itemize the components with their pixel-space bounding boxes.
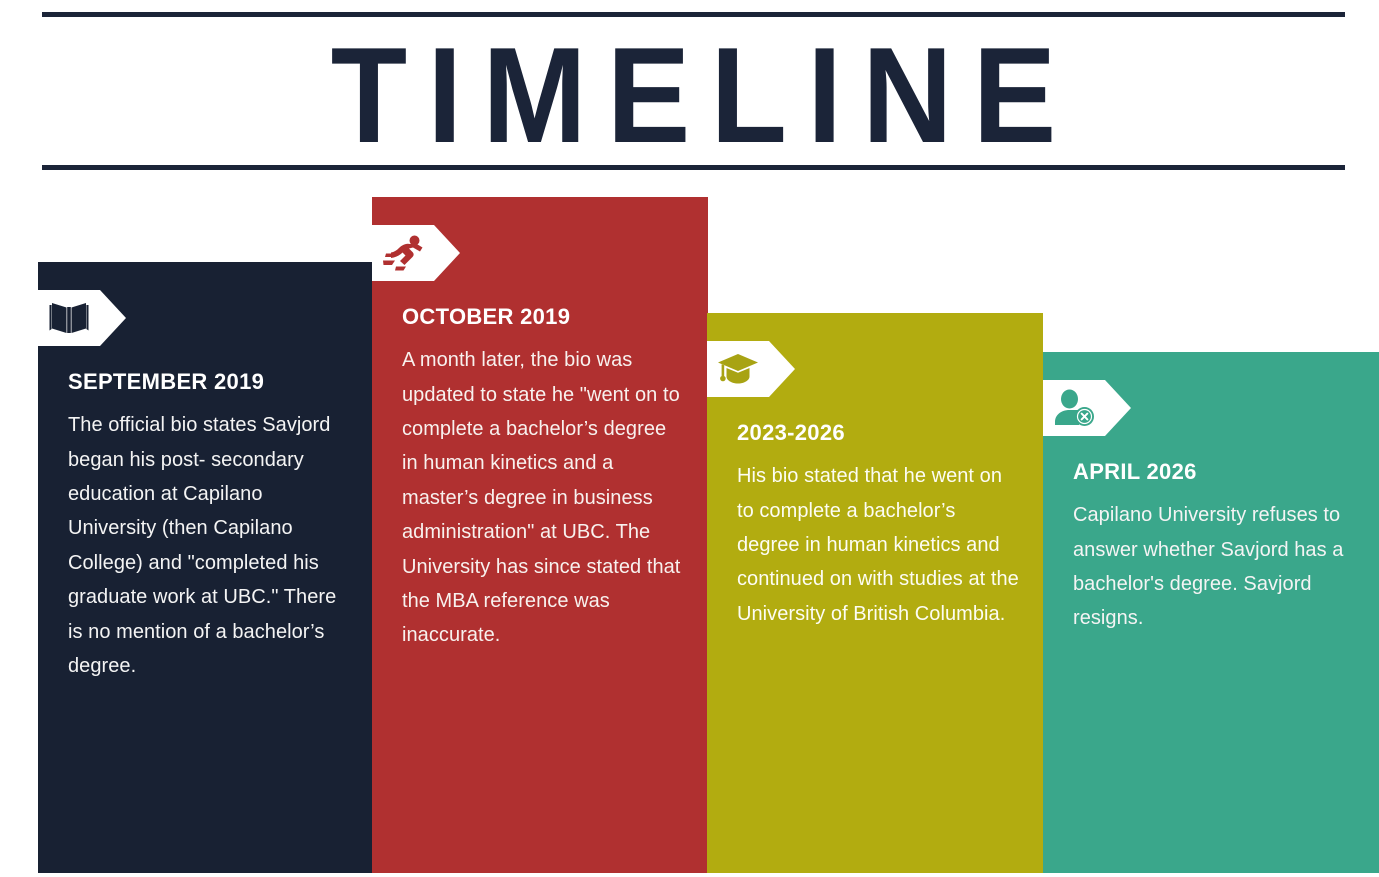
card-body: 2023-2026 His bio stated that he went on…: [737, 421, 1019, 631]
card-text: His bio stated that he went on to comple…: [737, 459, 1019, 631]
card-text: Capilano University refuses to answer wh…: [1073, 498, 1355, 636]
card-body: OCTOBER 2019 A month later, the bio was …: [402, 305, 684, 653]
timeline-badge: [707, 341, 795, 397]
card-date: APRIL 2026: [1073, 460, 1355, 484]
card-date: SEPTEMBER 2019: [68, 370, 350, 394]
card-body: SEPTEMBER 2019 The official bio states S…: [68, 370, 350, 683]
card-text: The official bio states Savjord began hi…: [68, 408, 350, 683]
graduation-cap-icon: [715, 347, 761, 391]
card-date: OCTOBER 2019: [402, 305, 684, 329]
timeline-card-april-2026[interactable]: APRIL 2026 Capilano University refuses t…: [1043, 352, 1379, 873]
user-remove-icon: [1051, 386, 1097, 430]
card-body: APRIL 2026 Capilano University refuses t…: [1073, 460, 1355, 636]
card-date: 2023-2026: [737, 421, 1019, 445]
timeline: SEPTEMBER 2019 The official bio states S…: [0, 0, 1379, 877]
timeline-card-2023-2026[interactable]: 2023-2026 His bio stated that he went on…: [707, 313, 1043, 873]
card-text: A month later, the bio was updated to st…: [402, 343, 684, 653]
timeline-badge: [38, 290, 126, 346]
timeline-card-october-2019[interactable]: OCTOBER 2019 A month later, the bio was …: [372, 197, 708, 873]
open-book-icon: [46, 296, 92, 340]
timeline-badge: [372, 225, 460, 281]
timeline-card-september-2019[interactable]: SEPTEMBER 2019 The official bio states S…: [38, 262, 374, 873]
running-person-icon: [380, 231, 426, 275]
timeline-badge: [1043, 380, 1131, 436]
